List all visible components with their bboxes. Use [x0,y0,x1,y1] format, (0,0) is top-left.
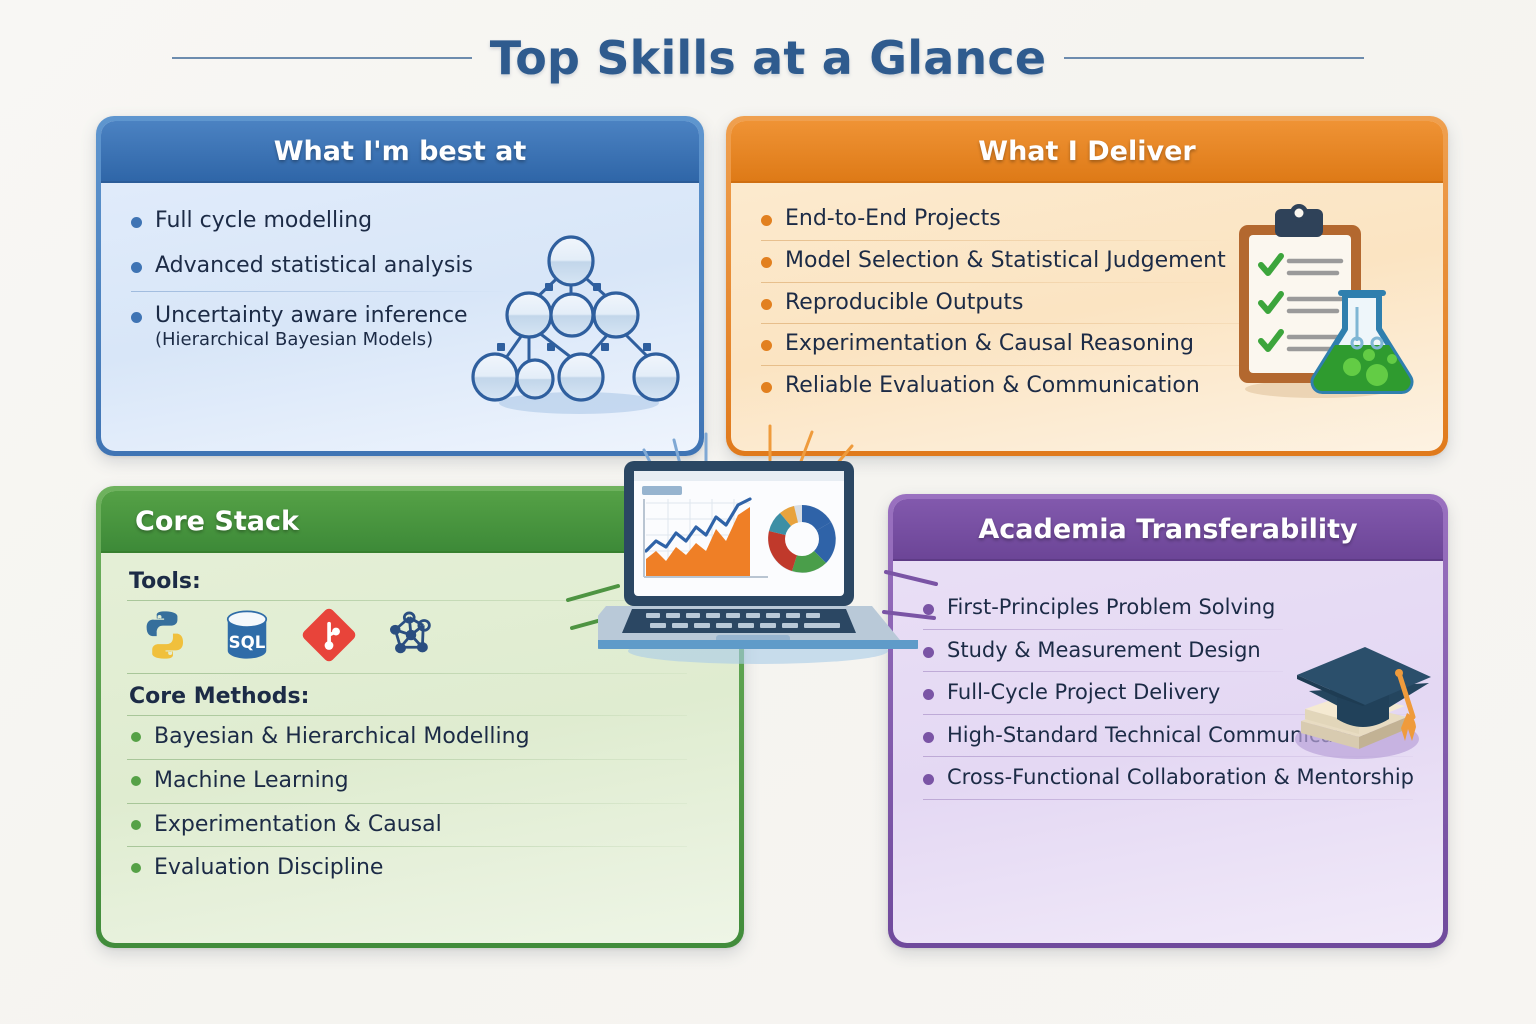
card-header-label: Core Stack [135,506,299,537]
card-academia-transferability[interactable]: Academia Transferability First-Principle… [888,494,1448,948]
list-item[interactable]: Uncertainty aware inference (Hierarchica… [127,294,673,361]
bullet-dot-icon [131,732,141,742]
card-inner: Academia Transferability First-Principle… [893,499,1443,943]
bullet-dot-icon [761,340,772,351]
list-item[interactable]: Experimentation & Causal Reasoning [757,324,1417,365]
card-header-label: Academia Transferability [978,514,1357,545]
list-divider [131,291,511,292]
card-body-best-at: Full cycle modelling Advanced statistica… [101,183,699,451]
bullet-dot-icon [923,689,934,700]
list-item-label: Advanced statistical analysis [155,253,473,280]
python-icon[interactable] [137,607,193,663]
list-item[interactable]: Reliable Evaluation & Communication [757,366,1417,407]
list-item[interactable]: Reproducible Outputs [757,283,1417,324]
card-header-best-at: What I'm best at [101,121,699,183]
list-item[interactable]: Full-Cycle Project Delivery [919,672,1417,714]
list-item[interactable]: Machine Learning [127,760,713,803]
bullet-dot-icon [131,820,141,830]
list-item-label: Full cycle modelling [155,208,372,235]
card-header-label: What I'm best at [274,136,527,167]
list-divider [923,799,1413,800]
title-rule-left [172,57,472,59]
infographic-canvas: Top Skills at a Glance What I'm best at … [0,0,1536,1024]
list-item[interactable]: Full cycle modelling [127,199,673,244]
list-item-label: Study & Measurement Design [947,638,1261,664]
list-item-main: Uncertainty aware inference [155,303,468,328]
card-inner: What I'm best at Full cycle modelling Ad… [101,121,699,451]
card-header-deliver: What I Deliver [731,121,1443,183]
laptop-dashboard-icon[interactable] [598,455,918,670]
list-item-label: Evaluation Discipline [154,855,383,882]
core-methods-list: Bayesian & Hierarchical Modelling Machin… [127,716,713,890]
list-item[interactable]: High-Standard Technical Communication [919,715,1417,757]
list-item[interactable]: Bayesian & Hierarchical Modelling [127,716,713,759]
list-item-label: End-to-End Projects [785,206,1001,233]
list-item[interactable]: First-Principles Problem Solving [919,587,1417,629]
list-item-label: Full-Cycle Project Delivery [947,680,1220,706]
list-item-label: Bayesian & Hierarchical Modelling [154,724,530,751]
list-item-label: Model Selection & Statistical Judgement [785,248,1226,275]
academia-list: First-Principles Problem Solving Study &… [919,587,1417,800]
list-item[interactable]: Evaluation Discipline [127,847,713,890]
bullet-dot-icon [761,382,772,393]
bullet-dot-icon [131,217,142,228]
bullet-dot-icon [923,774,934,785]
bullet-dot-icon [131,312,142,323]
card-inner: What I Deliver End-to-End Projects Model… [731,121,1443,451]
title-rule-right [1064,57,1364,59]
list-item-label: Machine Learning [154,768,349,795]
list-item-label: Experimentation & Causal Reasoning [785,331,1194,358]
page-title: Top Skills at a Glance [490,31,1047,85]
network-graph-icon[interactable] [383,607,439,663]
list-item-label: High-Standard Technical Communication [947,723,1374,749]
list-item[interactable]: Study & Measurement Design [919,630,1417,672]
list-item[interactable]: Advanced statistical analysis [127,244,673,289]
list-item[interactable]: Experimentation & Causal [127,804,713,847]
list-item[interactable]: End-to-End Projects [757,199,1417,240]
list-item[interactable]: Cross-Functional Collaboration & Mentors… [919,757,1417,799]
card-header-label: What I Deliver [978,136,1195,167]
card-what-i-deliver[interactable]: What I Deliver End-to-End Projects Model… [726,116,1448,456]
deliver-list: End-to-End Projects Model Selection & St… [757,199,1417,407]
list-item-label: First-Principles Problem Solving [947,595,1275,621]
bullet-dot-icon [923,732,934,743]
methods-section-label: Core Methods: [127,674,713,715]
list-item-label: Uncertainty aware inference (Hierarchica… [155,303,468,352]
card-header-academia: Academia Transferability [893,499,1443,561]
bullet-dot-icon [131,262,142,273]
sql-database-icon[interactable]: SQL [219,607,275,663]
page-title-row: Top Skills at a Glance [0,18,1536,98]
list-item-label: Cross-Functional Collaboration & Mentors… [947,765,1414,791]
bullet-dot-icon [131,776,141,786]
bullet-dot-icon [761,215,772,226]
list-item-label: Experimentation & Causal [154,812,442,839]
bullet-dot-icon [131,863,141,873]
card-body-deliver: End-to-End Projects Model Selection & St… [731,183,1443,451]
list-item-label: Reliable Evaluation & Communication [785,373,1200,400]
best-at-list: Full cycle modelling Advanced statistica… [127,199,673,360]
bullet-dot-icon [761,257,772,268]
list-item-subtext: (Hierarchical Bayesian Models) [155,329,468,351]
git-icon[interactable] [301,607,357,663]
svg-text:SQL: SQL [229,633,266,652]
card-what-im-best-at[interactable]: What I'm best at Full cycle modelling Ad… [96,116,704,456]
bullet-dot-icon [761,299,772,310]
list-item[interactable]: Model Selection & Statistical Judgement [757,241,1417,282]
card-body-academia: First-Principles Problem Solving Study &… [893,561,1443,943]
list-item-label: Reproducible Outputs [785,290,1023,317]
